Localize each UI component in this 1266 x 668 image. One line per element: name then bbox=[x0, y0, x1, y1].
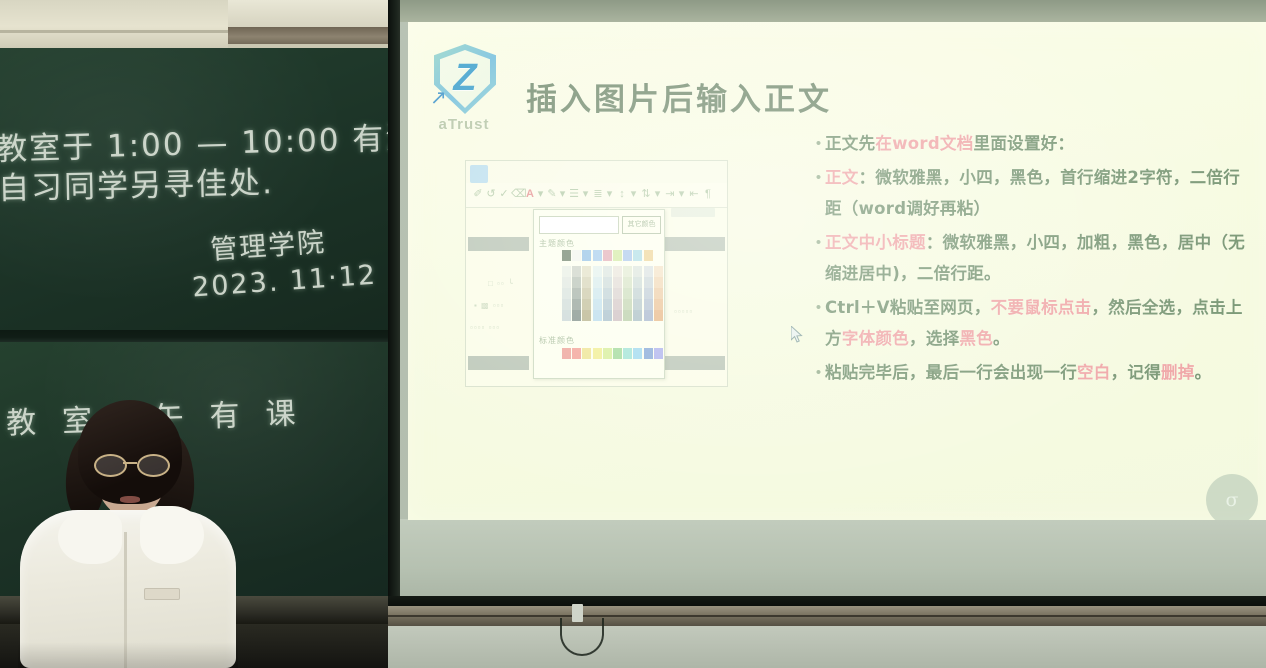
logo-wordmark: aTrust bbox=[422, 116, 506, 133]
chalk-line-3: 管理学院 bbox=[209, 220, 327, 267]
theme-color-tint-swatch[interactable] bbox=[623, 277, 632, 288]
standard-color-swatch[interactable] bbox=[623, 348, 632, 359]
wall-upper-middle bbox=[228, 0, 388, 30]
standard-color-swatch[interactable] bbox=[582, 348, 591, 359]
theme-color-tint-swatch[interactable] bbox=[633, 310, 642, 321]
chevron-down-icon[interactable]: ▾ bbox=[559, 187, 566, 202]
theme-color-tint-swatch[interactable] bbox=[644, 277, 653, 288]
theme-color-tint-swatch[interactable] bbox=[623, 266, 632, 277]
bullet-marker-icon: • bbox=[812, 227, 825, 258]
bullet-text-plain: 里面设置好： bbox=[974, 134, 1075, 153]
embedded-screenshot-image: ✐↺✓⌫A▾✎▾☰▾≣▾↕▾⇅▾⇥▾⇤¶ □ ▫▫ ╰ ▪ ▩ ▫▫▫ ▫▫▫▫… bbox=[465, 160, 728, 387]
theme-color-tint-swatch[interactable] bbox=[633, 266, 642, 277]
bullet-text-emphasis: 黑色 bbox=[959, 329, 993, 348]
highlight-icon[interactable]: ✎ bbox=[546, 187, 558, 202]
theme-color-swatch[interactable] bbox=[562, 250, 571, 261]
ghost-text-d: ▫▫▫▫▫ bbox=[674, 307, 693, 316]
page-band-right-bottom bbox=[656, 356, 725, 370]
bullet-text-emphasis: 不要鼠标点击 bbox=[991, 298, 1092, 317]
clear-format-icon[interactable]: ⌫ bbox=[511, 187, 523, 202]
jacket-hood-left bbox=[58, 510, 122, 564]
theme-color-tint-swatch[interactable] bbox=[593, 277, 602, 288]
theme-color-tint-swatch[interactable] bbox=[613, 277, 622, 288]
line-spacing-icon[interactable]: ↕ bbox=[616, 187, 628, 202]
indent-icon[interactable]: ⇥ bbox=[664, 187, 676, 202]
screenshot-root: 教室于 1:00 — 10:00 有活 自习同学另寻佳处. 管理学院 2023.… bbox=[0, 0, 1266, 668]
chalk-line-2: 自习同学另寻佳处. bbox=[0, 157, 274, 208]
theme-color-swatch[interactable] bbox=[644, 250, 653, 261]
ghost-text-c: ▫▫▫▫ ▫▫▫ bbox=[470, 323, 500, 332]
page-band-left-top bbox=[468, 237, 529, 251]
chevron-down-icon[interactable]: ▾ bbox=[537, 187, 544, 202]
screenshot-titlebar bbox=[466, 161, 727, 183]
theme-color-tint-swatch[interactable] bbox=[562, 288, 571, 299]
theme-color-tint-swatch[interactable] bbox=[654, 277, 663, 288]
theme-color-tint-swatch[interactable] bbox=[613, 266, 622, 277]
bullet-item: •正文先在word文档里面设置好： bbox=[812, 128, 1256, 160]
theme-color-tint-swatch[interactable] bbox=[562, 310, 571, 321]
theme-color-tint-swatch[interactable] bbox=[593, 266, 602, 277]
standard-color-swatch[interactable] bbox=[603, 348, 612, 359]
bullet-marker-icon: • bbox=[812, 162, 825, 193]
numbered-list-icon[interactable]: ≣ bbox=[592, 187, 604, 202]
theme-color-swatch[interactable] bbox=[633, 250, 642, 261]
person-figure bbox=[18, 392, 238, 668]
theme-color-tint-swatch[interactable] bbox=[613, 299, 622, 310]
theme-color-swatch[interactable] bbox=[593, 250, 602, 261]
page-band-right-top bbox=[656, 237, 725, 251]
screen-lower-blank-area bbox=[400, 519, 1266, 601]
theme-color-tint-swatch[interactable] bbox=[603, 299, 612, 310]
font-color-icon[interactable]: A bbox=[524, 187, 536, 202]
theme-color-tint-swatch[interactable] bbox=[562, 299, 571, 310]
theme-color-tint-swatch[interactable] bbox=[654, 266, 663, 277]
color-hex-input[interactable] bbox=[539, 216, 619, 234]
bullet-text-plain: 正文先 bbox=[825, 134, 875, 153]
watermark-badge: σ bbox=[1206, 474, 1258, 520]
bullet-item: •粘贴完毕后，最后一行会出现一行空白，记得删掉。 bbox=[812, 357, 1256, 389]
theme-color-swatch[interactable] bbox=[623, 250, 632, 261]
chevron-down-icon[interactable]: ▾ bbox=[630, 187, 637, 202]
theme-color-tint-swatch[interactable] bbox=[644, 266, 653, 277]
bullet-marker-icon: • bbox=[812, 128, 825, 159]
screen-top-strip bbox=[400, 0, 1266, 22]
theme-color-tint-swatch[interactable] bbox=[593, 288, 602, 299]
sort-icon[interactable]: ⇅ bbox=[640, 187, 652, 202]
theme-color-tint-swatch[interactable] bbox=[644, 299, 653, 310]
theme-color-tint-swatch[interactable] bbox=[572, 266, 581, 277]
mouse-cursor-icon bbox=[791, 326, 803, 344]
format-painter-icon[interactable]: ✐ bbox=[472, 187, 484, 202]
screenshot-toolbar: ✐↺✓⌫A▾✎▾☰▾≣▾↕▾⇅▾⇥▾⇤¶ bbox=[466, 183, 727, 207]
theme-color-tint-swatch[interactable] bbox=[593, 310, 602, 321]
wall-rail bbox=[388, 606, 1266, 628]
theme-color-tint-swatch[interactable] bbox=[603, 310, 612, 321]
standard-color-swatch[interactable] bbox=[633, 348, 642, 359]
check-icon[interactable]: ✓ bbox=[498, 187, 510, 202]
theme-color-tint-swatch[interactable] bbox=[582, 310, 591, 321]
bullet-text-emphasis: 空白 bbox=[1077, 363, 1111, 382]
chevron-down-icon[interactable]: ▾ bbox=[582, 187, 589, 202]
bullet-text: 正文先在word文档里面设置好： bbox=[825, 128, 1256, 160]
standard-color-swatch[interactable] bbox=[654, 348, 663, 359]
atrust-logo: Z ↗ aTrust bbox=[422, 44, 504, 144]
theme-color-tint-swatch[interactable] bbox=[613, 310, 622, 321]
theme-color-tint-swatch[interactable] bbox=[582, 266, 591, 277]
ghost-text-a: □ ▫▫ ╰ bbox=[488, 279, 514, 288]
bullet-text: 正文中小标题：微软雅黑，小四，加粗，黑色，居中（无缩进居中)，二倍行距。 bbox=[825, 227, 1256, 290]
theme-color-tint-swatch[interactable] bbox=[572, 299, 581, 310]
standard-color-swatch[interactable] bbox=[644, 348, 653, 359]
bullet-text-plain: ：微软雅黑，小四，黑色，首行缩进2字符，二倍行距（word调好再粘） bbox=[825, 168, 1240, 219]
theme-color-tint-swatch[interactable] bbox=[562, 266, 571, 277]
chevron-down-icon[interactable]: ▾ bbox=[606, 187, 613, 202]
theme-color-tint-swatch[interactable] bbox=[623, 299, 632, 310]
bullet-marker-icon: • bbox=[812, 292, 825, 323]
jacket-shadow bbox=[18, 642, 238, 668]
theme-color-swatch[interactable] bbox=[603, 250, 612, 261]
bullet-text-plain: 。 bbox=[993, 329, 1010, 348]
bullet-text-plain: ，选择 bbox=[909, 329, 959, 348]
theme-color-tint-swatch[interactable] bbox=[613, 288, 622, 299]
theme-colors-label: 主题颜色 bbox=[539, 238, 575, 249]
undo-icon[interactable]: ↺ bbox=[485, 187, 497, 202]
theme-color-tint-swatch[interactable] bbox=[593, 299, 602, 310]
standard-color-swatch[interactable] bbox=[593, 348, 602, 359]
paragraph-mark-icon[interactable]: ¶ bbox=[702, 187, 714, 202]
theme-color-tint-swatch[interactable] bbox=[572, 310, 581, 321]
mouth bbox=[120, 496, 140, 503]
bullet-text-plain: ，记得 bbox=[1111, 363, 1161, 382]
theme-color-tint-swatch[interactable] bbox=[654, 310, 663, 321]
theme-color-tint-swatch[interactable] bbox=[623, 288, 632, 299]
theme-color-tint-swatch[interactable] bbox=[582, 288, 591, 299]
bullet-marker-icon: • bbox=[812, 357, 825, 388]
chevron-down-icon[interactable]: ▾ bbox=[654, 187, 661, 202]
more-colors-button[interactable]: 其它颜色 bbox=[622, 216, 661, 234]
theme-color-swatch[interactable] bbox=[613, 250, 622, 261]
theme-color-tint-swatch[interactable] bbox=[562, 277, 571, 288]
bullet-item: •正文：微软雅黑，小四，黑色，首行缩进2字符，二倍行距（word调好再粘） bbox=[812, 162, 1256, 225]
bullet-item: •正文中小标题：微软雅黑，小四，加粗，黑色，居中（无缩进居中)，二倍行距。 bbox=[812, 227, 1256, 290]
theme-color-tint-swatch[interactable] bbox=[644, 288, 653, 299]
standard-color-swatch[interactable] bbox=[562, 348, 571, 359]
standard-color-swatch[interactable] bbox=[613, 348, 622, 359]
slide-title: 插入图片后输入正文 bbox=[526, 74, 832, 119]
chevron-down-icon[interactable]: ▾ bbox=[678, 187, 685, 202]
bullet-text-plain: Ctrl＋V粘贴至网页， bbox=[825, 298, 991, 317]
wall-below-screen bbox=[388, 626, 1266, 668]
arrow-up-right-icon: ↗ bbox=[430, 88, 452, 110]
browser-tab-icon bbox=[470, 165, 488, 183]
hair-top bbox=[78, 400, 182, 504]
outdent-icon[interactable]: ⇤ bbox=[688, 187, 700, 202]
page-band-left-bottom bbox=[468, 356, 529, 370]
bullet-item: •Ctrl＋V粘贴至网页，不要鼠标点击，然后全选，点击上方字体颜色，选择黑色。 bbox=[812, 292, 1256, 355]
theme-color-tint-swatch[interactable] bbox=[654, 288, 663, 299]
bullet-text-emphasis: 正文 bbox=[825, 168, 859, 187]
bullet-text-plain: 。 bbox=[1195, 363, 1212, 382]
bullet-text: Ctrl＋V粘贴至网页，不要鼠标点击，然后全选，点击上方字体颜色，选择黑色。 bbox=[825, 292, 1256, 355]
theme-color-tint-swatch[interactable] bbox=[654, 299, 663, 310]
bullet-text: 正文：微软雅黑，小四，黑色，首行缩进2字符，二倍行距（word调好再粘） bbox=[825, 162, 1256, 225]
bullet-list-icon[interactable]: ☰ bbox=[568, 187, 580, 202]
jacket-brand-tag bbox=[144, 588, 180, 600]
bullet-text: 粘贴完毕后，最后一行会出现一行空白，记得删掉。 bbox=[825, 357, 1256, 389]
theme-color-tint-swatch[interactable] bbox=[603, 266, 612, 277]
standard-colors-label: 标准颜色 bbox=[539, 335, 575, 346]
right-panel-placeholder bbox=[671, 208, 715, 217]
glasses-icon bbox=[92, 454, 170, 474]
wall-upper-left bbox=[0, 0, 232, 48]
theme-color-tint-swatch[interactable] bbox=[633, 299, 642, 310]
theme-color-tint-swatch[interactable] bbox=[603, 288, 612, 299]
theme-color-tint-swatch[interactable] bbox=[633, 288, 642, 299]
bullet-text-emphasis: 在word文档 bbox=[875, 134, 973, 153]
jacket-hood-right bbox=[140, 506, 204, 564]
ghost-text-b: ▪ ▩ ▫▫▫ bbox=[474, 301, 504, 310]
theme-color-tint-swatch[interactable] bbox=[572, 277, 581, 288]
theme-color-tint-swatch[interactable] bbox=[582, 277, 591, 288]
slide-bullet-list: •正文先在word文档里面设置好：•正文：微软雅黑，小四，黑色，首行缩进2字符，… bbox=[812, 128, 1256, 390]
theme-color-tint-swatch[interactable] bbox=[582, 299, 591, 310]
theme-color-tint-swatch[interactable] bbox=[644, 310, 653, 321]
powerpoint-slide: Z ↗ aTrust 插入图片后输入正文 ✐↺✓⌫A▾✎▾☰▾≣▾↕▾⇅▾⇥▾⇤… bbox=[408, 22, 1266, 520]
theme-color-tint-swatch[interactable] bbox=[623, 310, 632, 321]
bullet-text-emphasis: 删掉 bbox=[1161, 363, 1195, 382]
theme-color-swatch[interactable] bbox=[572, 250, 581, 261]
theme-color-swatch[interactable] bbox=[582, 250, 591, 261]
font-color-dropdown[interactable]: 其它颜色 主题颜色 标准颜色 bbox=[533, 209, 665, 379]
bullet-text-emphasis: 字体颜色 bbox=[842, 329, 909, 348]
theme-color-tint-swatch[interactable] bbox=[633, 277, 642, 288]
standard-color-swatch[interactable] bbox=[572, 348, 581, 359]
theme-color-tint-swatch[interactable] bbox=[603, 277, 612, 288]
theme-color-tint-swatch[interactable] bbox=[572, 288, 581, 299]
bullet-text-plain: 粘贴完毕后，最后一行会出现一行 bbox=[825, 363, 1077, 382]
bullet-text-emphasis: 正文中小标题 bbox=[825, 233, 926, 252]
